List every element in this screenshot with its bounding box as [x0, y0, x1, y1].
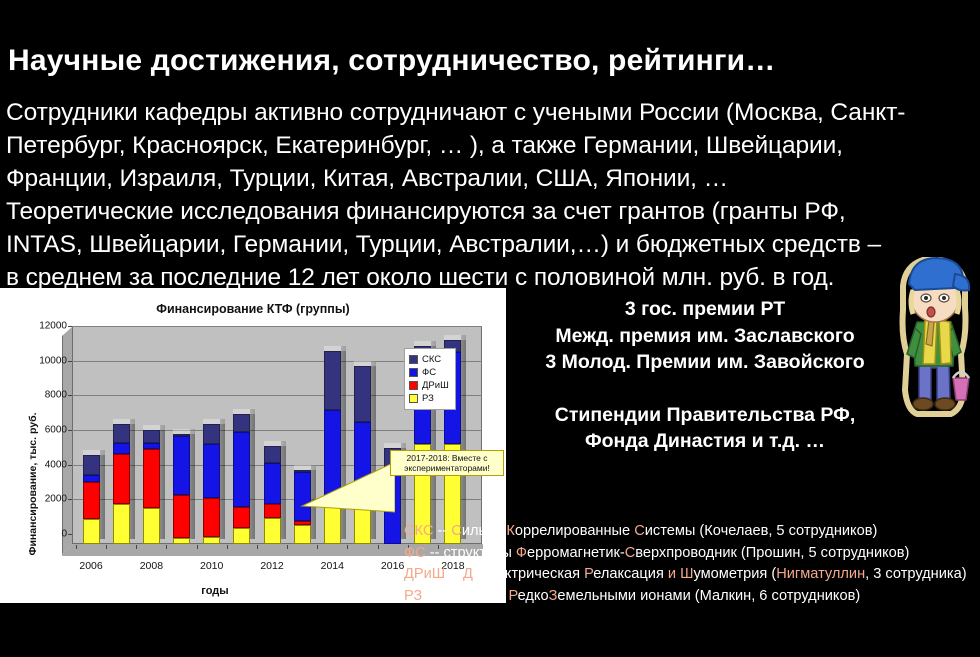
legend-label: СКС	[422, 353, 441, 366]
bar-top-face	[83, 450, 105, 455]
legend-highlight-text: С	[634, 523, 645, 539]
awards-line: 3 Молод. Премии им. Завойского	[520, 349, 890, 376]
bar-segment-ДРиШ	[83, 482, 100, 519]
bar-top-face	[414, 341, 436, 346]
legend-description-line: РЗ - системы с РедкоЗемельными ионами (М…	[404, 586, 980, 608]
legend-label: РЗ	[422, 392, 434, 405]
legend-plain-text: --	[433, 523, 451, 539]
bar-segment-РЗ	[113, 504, 130, 544]
chart-x-tick-mark	[106, 545, 107, 549]
legend-highlight-text: ДРиШ	[404, 566, 445, 582]
bar-segment-ДРиШ	[264, 504, 281, 518]
chart-y-tick-label: 10000	[39, 355, 67, 366]
presentation-slide: Научные достижения, сотрудничество, рейт…	[0, 0, 980, 657]
chart-y-tick-label: 8000	[45, 390, 67, 401]
awards-line: Фонда Династия и т.д. …	[520, 428, 890, 455]
chart-x-tick-mark	[317, 545, 318, 549]
bar-segment-ФС	[203, 444, 220, 498]
legend-highlight-text: и	[668, 566, 676, 582]
legend-highlight-text: РЗ	[404, 588, 422, 604]
chart-x-tick-label: 2014	[321, 560, 344, 572]
body-text: Сотрудники кафедры активно сотрудничают …	[6, 96, 974, 294]
legend-swatch-ФС	[409, 368, 418, 377]
awards-line: Межд. премия им. Заславского	[520, 323, 890, 350]
chart-y-tick-label: 0	[61, 529, 67, 540]
legend-swatch-СКС	[409, 355, 418, 364]
chart-title: Финансирование КТФ (группы)	[0, 302, 506, 316]
bar-top-face	[384, 443, 406, 448]
body-line: Сотрудники кафедры активно сотрудничают …	[6, 96, 974, 129]
chart-x-tick-mark	[76, 545, 77, 549]
callout-leader-line	[300, 458, 395, 516]
bar-segment-СКС	[143, 430, 160, 443]
bar-segment-ФС	[173, 436, 190, 495]
bar-segment-ДРиШ	[143, 449, 160, 509]
legend-plain-text: умометрия (	[694, 566, 777, 582]
chart-x-tick-label: 2008	[140, 560, 163, 572]
chart-y-tick-mark	[68, 430, 72, 431]
bar-side-face	[250, 409, 255, 539]
legend-plain-text: верхпроводник (Прошин, 5 сотрудников)	[635, 545, 909, 561]
legend-highlight-text: Р	[509, 588, 518, 604]
page-title: Научные достижения, сотрудничество, рейт…	[8, 46, 972, 76]
bar-segment-РЗ	[203, 537, 220, 544]
bar-top-face	[264, 441, 286, 446]
legend-highlight-text: К	[506, 523, 515, 539]
awards-block-prizes: 3 гос. премии РТ Межд. премия им. Заслав…	[520, 296, 890, 376]
chart-bar-2006	[83, 455, 100, 544]
legend-plain-text: ерромагнетик-	[527, 545, 625, 561]
legend-plain-text: едко	[518, 588, 549, 604]
legend-plain-text: истемы (Кочелаев, 5 сотрудников)	[645, 523, 878, 539]
legend-plain-text: --	[445, 566, 463, 582]
chart-legend: СКСФСДРиШРЗ	[404, 348, 456, 410]
chart-y-tick-label: 4000	[45, 459, 67, 470]
chart-x-tick-mark	[378, 545, 379, 549]
chart-x-tick-label: 2006	[79, 560, 102, 572]
bar-side-face	[100, 450, 105, 539]
bar-side-face	[281, 441, 286, 539]
bar-top-face	[233, 409, 255, 414]
legend-swatch-РЗ	[409, 394, 418, 403]
bar-side-face	[190, 429, 195, 539]
awards-line: Стипендии Правительства РФ,	[520, 402, 890, 429]
bar-side-face	[461, 335, 466, 540]
bar-segment-ДРиШ	[203, 498, 220, 537]
group-abbreviation-legend: СКС -- Сильно Коррелированные Системы (К…	[404, 521, 980, 607]
bar-top-face	[143, 425, 165, 430]
chart-x-tick-mark	[287, 545, 288, 549]
chart-legend-item-ФС: ФС	[409, 366, 449, 379]
chart-x-tick-mark	[136, 545, 137, 549]
legend-swatch-ДРиШ	[409, 381, 418, 390]
legend-description-line: ДРиШ -- Диэлектрическая Релаксация и Шум…	[404, 564, 980, 586]
body-line: Франции, Израиля, Турции, Китая, Австрал…	[6, 162, 974, 195]
bar-top-face	[203, 419, 225, 424]
legend-plain-text: - системы с	[422, 588, 508, 604]
bar-side-face	[130, 419, 135, 539]
bar-side-face	[160, 425, 165, 539]
bar-segment-РЗ	[143, 508, 160, 544]
bar-side-face	[220, 419, 225, 539]
legend-plain-text: , 3 сотрудника)	[865, 566, 966, 582]
bar-segment-СКС	[233, 414, 250, 432]
chart-x-tick-label: 2010	[200, 560, 223, 572]
chart-x-tick-mark	[257, 545, 258, 549]
legend-plain-text: емельными ионами (Малкин, 6 сотрудников)	[557, 588, 860, 604]
chart-legend-item-СКС: СКС	[409, 353, 449, 366]
chart-bar-2015	[354, 366, 371, 544]
chart-x-tick-label: 2016	[381, 560, 404, 572]
chart-legend-item-ДРиШ: ДРиШ	[409, 379, 449, 392]
body-line: Петербург, Красноярск, Екатеринбург, … )…	[6, 129, 974, 162]
bar-segment-РЗ	[233, 528, 250, 544]
chart-x-axis-label: годы	[0, 585, 430, 597]
legend-highlight-text: С	[451, 523, 462, 539]
chart-gridline	[72, 326, 482, 327]
bar-segment-РЗ	[294, 525, 311, 544]
chart-y-tick-mark	[68, 465, 72, 466]
bar-segment-СКС	[203, 424, 220, 445]
legend-highlight-text: Д	[463, 566, 473, 582]
chart-x-tick-mark	[347, 545, 348, 549]
chart-bar-2007	[113, 424, 130, 544]
bar-segment-СКС	[264, 446, 281, 463]
bar-segment-СКС	[324, 351, 341, 410]
chart-x-tick-label: 2012	[260, 560, 283, 572]
legend-description-line: ФС -- структуры Ферромагнетик-Сверхпрово…	[404, 543, 980, 565]
chart-bar-2012	[264, 446, 281, 544]
chart-legend-item-РЗ: РЗ	[409, 392, 449, 405]
bar-segment-ФС	[233, 432, 250, 507]
chart-y-tick-label: 2000	[45, 494, 67, 505]
bar-segment-ФС	[83, 475, 100, 482]
bar-segment-ФС	[264, 463, 281, 504]
chart-x-tick-mark	[227, 545, 228, 549]
legend-label: ФС	[422, 366, 436, 379]
cartoon-boy-mascot-icon	[893, 250, 975, 422]
chart-y-axis-label: Финансирование, тыс. руб.	[27, 399, 39, 569]
chart-bar-2010	[203, 424, 220, 544]
legend-description-line: СКС -- Сильно Коррелированные Системы (К…	[404, 521, 980, 543]
awards-block-scholarships: Стипендии Правительства РФ, Фонда Династ…	[520, 402, 890, 455]
body-line: Теоретические исследования финансируются…	[6, 195, 974, 228]
legend-highlight-text: С	[625, 545, 636, 561]
bar-segment-РЗ	[173, 538, 190, 544]
chart-bar-2008	[143, 430, 160, 544]
legend-highlight-text: Ф	[516, 545, 527, 561]
bar-top-face	[173, 429, 195, 434]
legend-highlight-text: ФС	[404, 545, 426, 561]
chart-y-tick-mark	[68, 361, 72, 362]
bar-segment-СКС	[113, 424, 130, 443]
legend-plain-text: -- структуры	[426, 545, 516, 561]
legend-highlight-text: Нигматуллин	[776, 566, 865, 582]
bar-segment-ДРиШ	[233, 507, 250, 529]
legend-highlight-text: СКС	[404, 523, 433, 539]
legend-label: ДРиШ	[422, 379, 449, 392]
chart-x-tick-mark	[197, 545, 198, 549]
chart-x-tick-mark	[166, 545, 167, 549]
legend-plain-text: иэлектрическая	[473, 566, 584, 582]
body-line: INTAS, Швейцарии, Германии, Турции, Авст…	[6, 228, 974, 261]
chart-y-tick-mark	[68, 534, 72, 535]
awards-text: 3 гос. премии РТ Межд. премия им. Заслав…	[520, 296, 890, 455]
chart-bar-2011	[233, 414, 250, 544]
bar-segment-РЗ	[83, 519, 100, 544]
chart-annotation-callout: 2017-2018: Вместе с экспериментаторами!	[390, 450, 504, 476]
bar-top-face	[354, 361, 376, 366]
legend-plain-text: елаксация	[593, 566, 668, 582]
awards-line: 3 гос. премии РТ	[520, 296, 890, 323]
bar-segment-СКС	[83, 455, 100, 475]
legend-plain-text: ильно	[462, 523, 507, 539]
bar-top-face	[324, 346, 346, 351]
chart-y-tick-mark	[68, 326, 72, 327]
chart-bar-2009	[173, 434, 190, 544]
bar-segment-РЗ	[264, 518, 281, 544]
legend-highlight-text: Р	[584, 566, 593, 582]
chart-y-tick-label: 12000	[39, 321, 67, 332]
chart-y-tick-mark	[68, 499, 72, 500]
bar-top-face	[113, 419, 135, 424]
chart-y-tick-label: 6000	[45, 425, 67, 436]
bar-segment-СКС	[354, 366, 371, 421]
legend-plain-text: оррелированные	[515, 523, 634, 539]
bar-segment-ФС	[113, 443, 130, 453]
legend-highlight-text: Ш	[680, 566, 693, 582]
chart-y-tick-mark	[68, 395, 72, 396]
bar-segment-ДРиШ	[113, 454, 130, 504]
bar-segment-ДРиШ	[173, 495, 190, 538]
bar-top-face	[444, 335, 466, 340]
